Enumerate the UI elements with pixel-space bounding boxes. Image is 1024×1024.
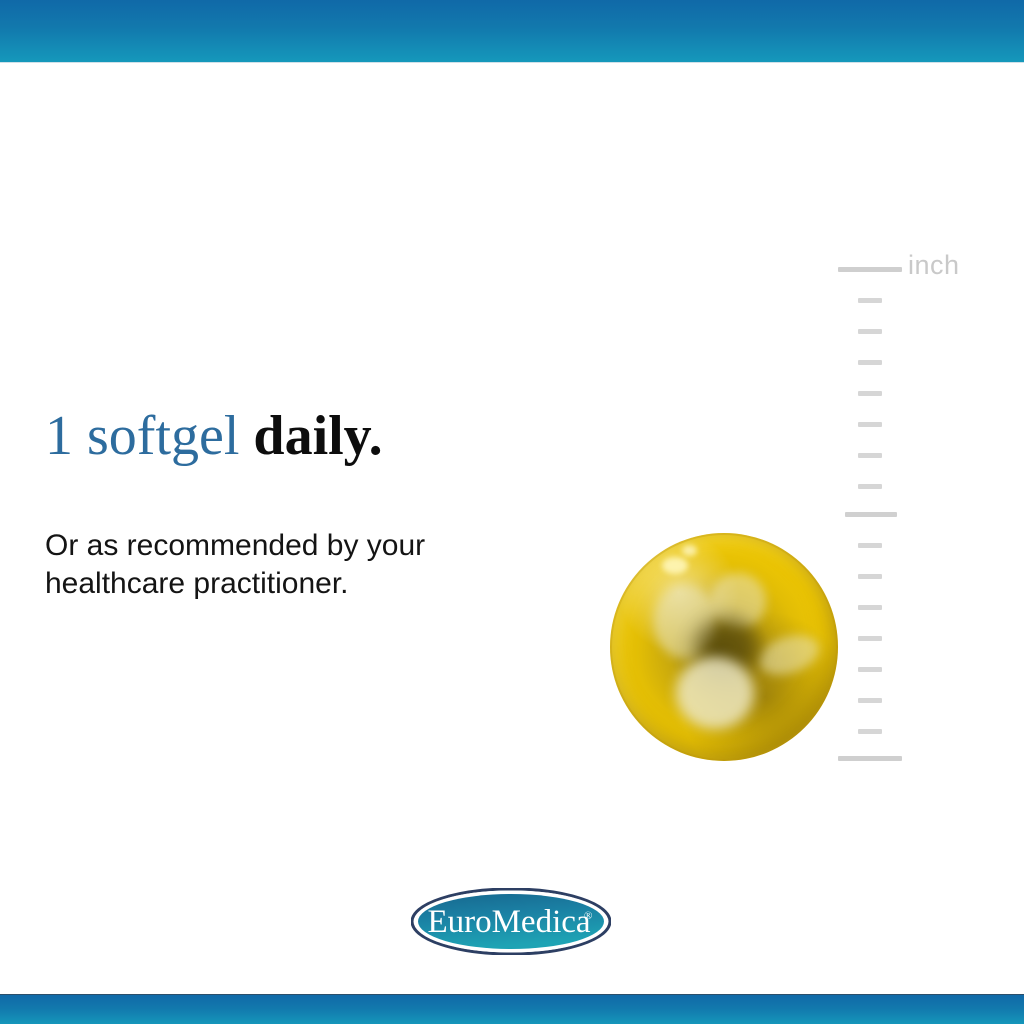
dosage-note: Or as recommended by your healthcare pra… — [45, 527, 515, 603]
ruler-tick-minor-7 — [858, 484, 882, 489]
page-title: 1 softgel daily. — [45, 404, 383, 468]
ruler-tick-minor-14 — [858, 698, 882, 703]
ruler-tick-minor-5 — [858, 422, 882, 427]
capsule-body — [610, 533, 838, 761]
ruler-unit-label: inch — [908, 250, 960, 280]
ruler-tick-minor-12 — [858, 636, 882, 641]
size-reference-ruler — [836, 260, 906, 765]
headline-main-text: daily. — [239, 405, 382, 467]
ruler-tick-minor-1 — [858, 298, 882, 303]
dosage-note-line-1: Or as recommended by your — [45, 527, 515, 565]
dosage-note-line-2: healthcare practitioner. — [45, 565, 515, 603]
ruler-tick-minor-9 — [858, 543, 882, 548]
ruler-tick-minor-3 — [858, 360, 882, 365]
ruler-tick-minor-13 — [858, 667, 882, 672]
bottom-brand-bar — [0, 994, 1024, 1024]
top-brand-bar — [0, 0, 1024, 63]
ruler-tick-minor-4 — [858, 391, 882, 396]
ruler-tick-half-8 — [845, 512, 897, 517]
headline-accent-text: 1 softgel — [45, 405, 239, 467]
product-dosage-card: 1 softgel daily. Or as recommended by yo… — [0, 0, 1024, 1024]
ruler-tick-major-16 — [838, 756, 902, 761]
softgel-capsule-image — [610, 533, 838, 761]
ruler-tick-minor-2 — [858, 329, 882, 334]
logo-wordmark: EuroMedica — [427, 904, 590, 940]
euromedica-logo: EuroMedica ® — [411, 888, 611, 955]
registered-trademark-symbol: ® — [584, 910, 592, 922]
ruler-tick-minor-10 — [858, 574, 882, 579]
ruler-tick-minor-6 — [858, 453, 882, 458]
ruler-tick-minor-11 — [858, 605, 882, 610]
ruler-tick-minor-15 — [858, 729, 882, 734]
ruler-tick-major-0 — [838, 267, 902, 272]
capsule-rim — [610, 533, 838, 761]
